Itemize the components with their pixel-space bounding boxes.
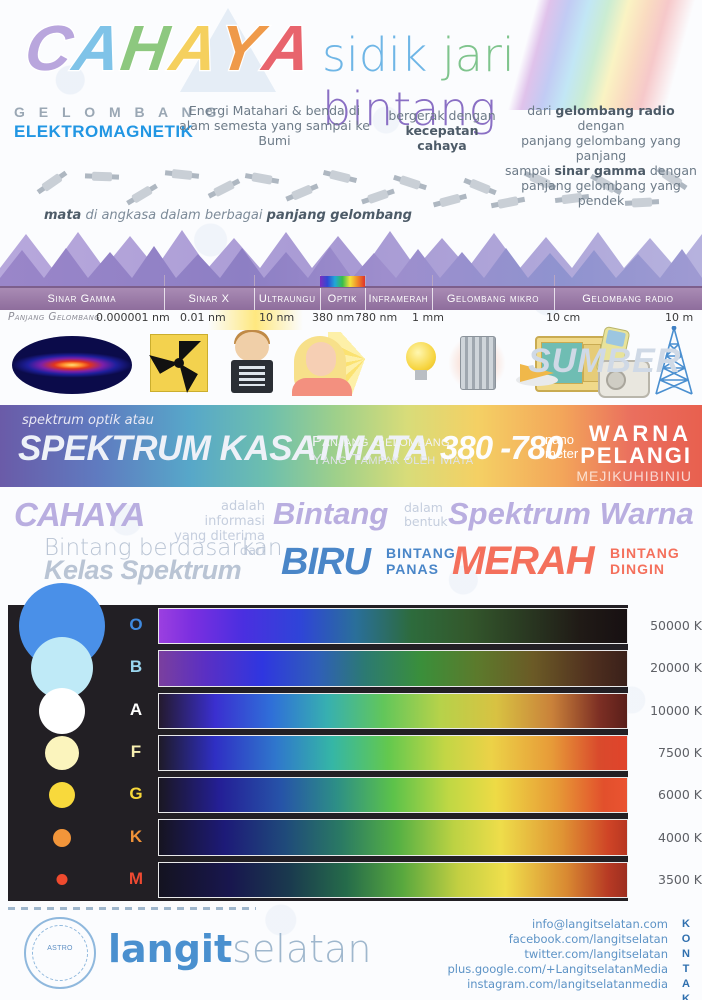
- dingin-l1: BINTANG: [610, 545, 680, 561]
- intro-energi-text: Energi Matahari & benda di alam semesta …: [172, 103, 377, 148]
- em-tick: [432, 275, 433, 286]
- intro-kecepatan-text: bergerak dengan kecepatan cahaya: [382, 108, 502, 153]
- radio-l1a: dari: [527, 103, 555, 118]
- radio-l2: panjang gelombang yang panjang: [521, 133, 681, 163]
- statement-spektrum-warna: Spektrum Warna: [448, 496, 694, 532]
- spectral-class-chart: OBAFGKM 50000 K20000 K10000 K7500 K6000 …: [0, 605, 702, 901]
- contact-line[interactable]: instagram.com/langitselatanmedia: [447, 977, 668, 992]
- statement-bintang-dingin: BINTANG DINGIN: [610, 545, 680, 577]
- satellite-icon: [92, 172, 112, 182]
- star-size-column: [8, 605, 116, 901]
- statement-dalam-bentuk: dalam bentuk: [404, 501, 448, 529]
- visible-spectrum-banner: spektrum optik atau SPEKTRUM KASATMATA P…: [0, 405, 702, 487]
- kontak-letter: N: [678, 947, 694, 962]
- wavelength-value: 10 nm: [259, 311, 294, 324]
- class-label-B: B: [116, 657, 156, 677]
- temperature-label-K: 4000 K: [636, 830, 702, 845]
- satellite-icon: [251, 172, 272, 184]
- kontak-letter: K: [678, 917, 694, 932]
- panas-l2: PANAS: [386, 561, 439, 577]
- footer-divider: [8, 907, 256, 910]
- star-size-K: [53, 829, 71, 847]
- em-band-ultraungu[interactable]: Ultraungu: [254, 288, 321, 310]
- em-spectrum-bar: Sinar GammaSinar XUltraunguOptikInframer…: [0, 286, 702, 310]
- contact-line[interactable]: twitter.com/langitselatan: [447, 947, 668, 962]
- wavelength-range-value: 380 -780: [440, 429, 562, 467]
- class-label-O: O: [116, 615, 156, 635]
- em-band-gelombang-mikro[interactable]: Gelombang mikro: [432, 288, 555, 310]
- dalam-l2: bentuk: [404, 514, 448, 529]
- temperature-label-G: 6000 K: [636, 787, 702, 802]
- light-bulb-icon: [404, 342, 438, 388]
- dingin-l2: DINGIN: [610, 561, 665, 577]
- statement-merah: MERAH: [452, 539, 594, 584]
- satellite-icon: [367, 189, 389, 204]
- kontak-letter: A: [678, 977, 694, 992]
- satellite-icon: [291, 184, 313, 200]
- langitselatan-seal-logo: ASTRO: [24, 917, 96, 989]
- optical-spectrum-chip: [320, 276, 364, 287]
- radiation-blade-2: [168, 363, 198, 393]
- sat-caption-mid: di angkasa dalam berbagai: [81, 208, 266, 223]
- radio-l3b: sinar gamma: [554, 163, 645, 178]
- infographic-page: CAHAYA sidik jari bintang G E L O M B A …: [0, 0, 702, 1000]
- spectrum-strip-K[interactable]: [158, 819, 628, 855]
- kontak-letter: T: [678, 962, 694, 977]
- kontak-vertical-label: KONTAK: [678, 917, 694, 1000]
- footer: ASTRO langitselatan info@langitselatan.c…: [0, 905, 702, 1000]
- satellite-icon: [439, 194, 461, 208]
- wavelength-value: 780 nm: [355, 311, 397, 324]
- class-label-G: G: [116, 784, 156, 804]
- contact-line[interactable]: plus.google.com/+LangitselatanMedia: [447, 962, 668, 977]
- page-title: CAHAYA: [26, 16, 312, 80]
- seal-inner-ring: [32, 925, 88, 981]
- statement-biru: BIRU: [281, 541, 370, 584]
- temperature-label-B: 20000 K: [636, 660, 702, 675]
- dalam-l1: dalam: [404, 500, 443, 515]
- statement-cahaya: CAHAYA: [14, 496, 144, 534]
- satellite-icon: [399, 175, 421, 190]
- temperature-label-F: 7500 K: [636, 745, 702, 760]
- radiation-sign-icon: [150, 334, 208, 392]
- star-size-A: [39, 688, 85, 734]
- star-size-F: [45, 736, 79, 770]
- em-tick: [365, 275, 366, 286]
- sat-caption-end: panjang gelombang: [267, 208, 412, 223]
- galaxy-image: [12, 336, 132, 394]
- kontak-letter: K: [678, 992, 694, 1000]
- unit-nano: nano: [545, 432, 574, 447]
- wavelength-axis-label: Panjang Gelombang: [8, 311, 100, 323]
- satellite-icon: [131, 185, 153, 203]
- kontak-letter: O: [678, 932, 694, 947]
- radio-l3c: dengan: [646, 163, 697, 178]
- wavelength-value: 1 mm: [412, 311, 444, 324]
- warna-label: WARNA: [576, 423, 692, 445]
- panas-l1: BINTANG: [386, 545, 456, 561]
- intro-text-row: G E L O M B A N G ELEKTROMAGNETIK Energi…: [0, 100, 702, 172]
- sunbathing-woman-icon: [290, 332, 396, 396]
- kid-head: [235, 332, 269, 362]
- intro-radio-gamma-text: dari gelombang radio dengan panjang gelo…: [505, 103, 697, 208]
- em-band-gelombang-radio[interactable]: Gelombang radio: [554, 288, 702, 310]
- pg-line1: Panjang Gelombang: [312, 433, 450, 450]
- radio-l4: panjang gelombang yang pendek: [521, 178, 681, 208]
- em-tick: [254, 275, 255, 286]
- spectrum-strip-G[interactable]: [158, 777, 628, 813]
- em-tick: [554, 275, 555, 286]
- temperature-label-A: 10000 K: [636, 703, 702, 718]
- radio-l1c: dengan: [577, 118, 624, 133]
- intro-gerak-plain: bergerak dengan: [388, 108, 495, 123]
- xray-kid-icon: [225, 332, 279, 396]
- adalah-l1: adalah informasi: [204, 499, 265, 529]
- subtitle-word-1: jari: [442, 28, 515, 82]
- star-size-M: [57, 874, 68, 885]
- statement-bintang-panas: BINTANG PANAS: [386, 545, 456, 577]
- sumber-watermark: SUMBER: [528, 342, 681, 381]
- spectrum-strip-A[interactable]: [158, 693, 628, 729]
- wavelength-value: 10 cm: [546, 311, 580, 324]
- class-label-K: K: [116, 827, 156, 847]
- pelangi-label: PELANGI: [576, 445, 692, 467]
- woman-face: [306, 342, 336, 376]
- seal-text: ASTRO: [26, 945, 94, 952]
- brand-wordmark: langitselatan: [108, 927, 371, 972]
- wavelength-value: 0.000001 nm: [96, 311, 170, 324]
- bulb-socket: [415, 370, 427, 380]
- kid-ribcage: [239, 366, 265, 386]
- satellite-caption: mata di angkasa dalam berbagai panjang g…: [44, 208, 412, 223]
- star-size-G: [49, 782, 75, 808]
- satellite-icon: [41, 173, 63, 192]
- satellite-icon: [213, 180, 235, 197]
- wavelength-value: 10 m: [665, 311, 693, 324]
- heater-icon: [450, 332, 506, 396]
- spectrum-strip-column: [158, 605, 628, 901]
- spektrum-optik-label: spektrum optik atau: [22, 413, 154, 428]
- contact-line[interactable]: facebook.com/langitselatan: [447, 932, 668, 947]
- title-letter-5: A: [259, 16, 316, 80]
- temperature-label-M: 3500 K: [636, 872, 702, 887]
- spectrum-strip-O[interactable]: [158, 608, 628, 644]
- class-label-F: F: [116, 742, 156, 762]
- wavelength-unit: nano meter: [545, 433, 578, 461]
- brand-selatan: selatan: [232, 927, 371, 971]
- statement-block: CAHAYA adalah informasi yang diterima da…: [0, 493, 702, 593]
- subtitle-word-0: sidik: [322, 28, 442, 82]
- class-label-A: A: [116, 700, 156, 720]
- header: CAHAYA sidik jari bintang: [0, 0, 702, 96]
- em-band-sinar-gamma[interactable]: Sinar Gamma: [0, 288, 165, 310]
- warna-pelangi-block: WARNA PELANGI MEJIKUHIBINIU: [576, 423, 692, 485]
- sat-caption-bold: mata: [44, 208, 81, 223]
- brand-langit: langit: [108, 927, 232, 971]
- em-tick: [164, 275, 165, 286]
- contact-line[interactable]: info@langitselatan.com: [447, 917, 668, 932]
- heater-body: [460, 336, 496, 390]
- contact-list[interactable]: info@langitselatan.comfacebook.com/langi…: [447, 917, 668, 992]
- temperature-column: 50000 K20000 K10000 K7500 K6000 K4000 K3…: [636, 605, 702, 901]
- spectrum-strip-F[interactable]: [158, 735, 628, 771]
- satellite-icon: [469, 179, 491, 195]
- bulb-glass: [406, 342, 436, 372]
- temperature-label-O: 50000 K: [636, 618, 702, 633]
- statement-kelas-spektrum: Kelas Spektrum: [44, 555, 241, 586]
- em-band-inframerah[interactable]: Inframerah: [365, 288, 433, 310]
- wavelength-scale-row: Panjang Gelombang 0.000001 nm0.01 nm10 n…: [0, 310, 702, 328]
- radio-l3a: sampai: [505, 163, 554, 178]
- spectral-class-column: OBAFGKM: [116, 605, 156, 901]
- wavelength-value: 0.01 nm: [180, 311, 226, 324]
- unit-meter: meter: [545, 446, 578, 461]
- class-label-M: M: [116, 869, 156, 889]
- title-letter-2: H: [118, 16, 175, 80]
- statement-bintang: Bintang: [273, 496, 388, 532]
- spectrum-strip-M[interactable]: [158, 862, 628, 898]
- radio-l1b: gelombang radio: [555, 103, 674, 118]
- mejikuhibiniu-label: MEJIKUHIBINIU: [576, 467, 692, 485]
- em-band-sinar-x[interactable]: Sinar X: [164, 288, 256, 310]
- woman-torso: [292, 378, 352, 396]
- em-band-optik[interactable]: Optik: [320, 288, 365, 310]
- spectrum-strip-B[interactable]: [158, 650, 628, 686]
- em-source-icon-row: SUMBER: [0, 330, 702, 402]
- wavelength-value: 380 nm: [312, 311, 354, 324]
- intro-gerak-bold: kecepatan cahaya: [405, 123, 478, 153]
